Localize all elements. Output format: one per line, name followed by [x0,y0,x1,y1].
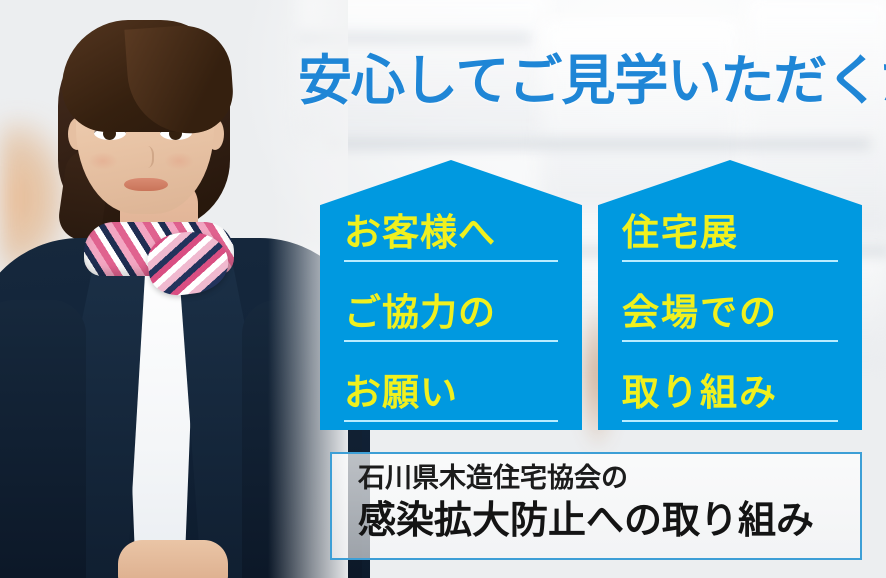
badge-line: ご協力の [344,292,558,342]
cheek-right [164,152,194,170]
badge-line: 会場での [622,292,838,342]
background-shelf-edge [330,140,870,148]
presenter-photo [0,0,340,578]
cheek-left [88,152,118,170]
arm-left [0,300,86,578]
caption-headline: 感染拡大防止への取り組み [358,498,860,544]
badge-line: お客様へ [344,212,558,262]
badge-text-block: 住宅展 会場での 取り組み [598,212,862,422]
badge-text-block: お客様へ ご協力の お願い [320,212,582,422]
badge-line: 取り組み [622,372,838,422]
customer-request-badge: お客様へ ご協力の お願い [320,160,582,430]
badge-line: 住宅展 [622,212,838,262]
promotional-banner: 安心してご見学いただくため お客様へ ご協力の お願い 住宅展 会場での 取り組… [0,0,886,578]
nose [138,146,154,168]
caption-box: 石川県木造住宅協会の 感染拡大防止への取り組み [330,452,862,560]
venue-measures-badge: 住宅展 会場での 取り組み [598,160,862,430]
caption-organization: 石川県木造住宅協会の [358,462,860,496]
lips [124,178,168,191]
clasped-hands [118,540,228,578]
badge-line: お願い [344,372,558,422]
page-title: 安心してご見学いただくため [298,54,886,108]
